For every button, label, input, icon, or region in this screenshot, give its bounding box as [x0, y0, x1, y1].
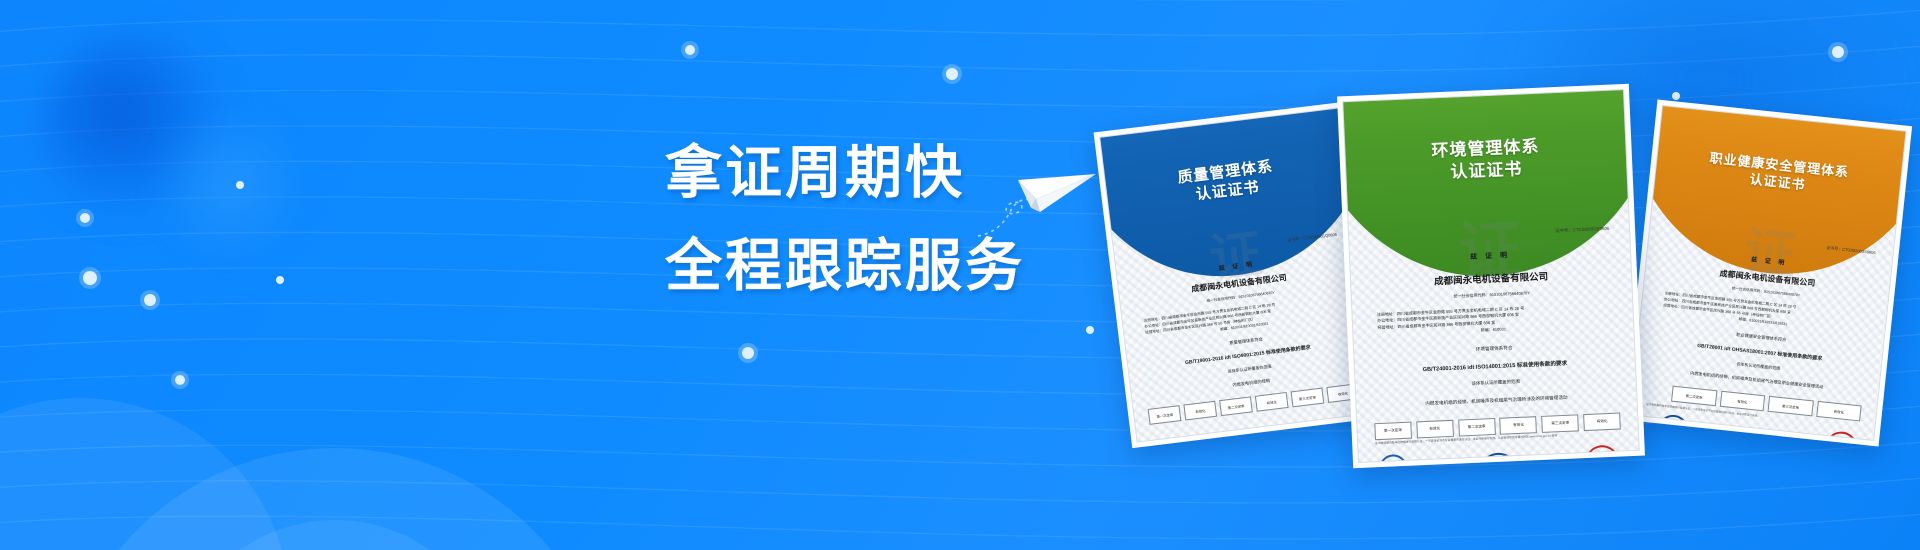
cnas-logo: CNAS — [1481, 452, 1516, 463]
decor-dot-1 — [80, 213, 90, 223]
decor-dot-7 — [742, 347, 754, 359]
certificate-occupational-health[interactable]: 职业健康安全管理体系 认证证书 证 证书号：CT02M2003S0606 兹 证… — [1624, 100, 1912, 447]
certificate-environment[interactable]: 环境管理体系 认证证书 证 证书号：CT01M2002E0606 兹 证 明 成… — [1337, 84, 1645, 468]
certificate-stack: 质量管理体系 认证证书 证 证书号：CT01M2001Q0606 兹 证 明 成… — [1100, 70, 1920, 500]
decor-dot-2 — [144, 294, 156, 306]
glow-blob-light — [150, 110, 310, 260]
certificate-scope-label: 该体系认证所覆盖的范围 — [1375, 375, 1616, 391]
certificate-scope-value: 内燃发电机组的经销、机房噪声及机组尾气治理所涉及的环境管理活动 — [1376, 393, 1617, 409]
certificate-serial: 证书号：CT02M2003S0606 — [1826, 245, 1876, 256]
decor-dot-11 — [175, 375, 185, 385]
certificate-addresses: 注册地址：四川省成都市金牛区金府路 555 号万贯五金机电城二期 C 区 14 … — [1377, 302, 1609, 339]
decor-dot-5 — [685, 45, 695, 55]
certificate-serial: 证书号：CT01M2002E0606 — [1555, 226, 1610, 234]
decor-dot-10 — [1832, 46, 1844, 58]
cnas-caption: 中国合格评定国家MANAGEMENT SYSTEMCNAS-C174-M — [1535, 456, 1566, 463]
certificate-standard: GB/T24001-2016 idt ISO14001:2015 标准使用条款的… — [1374, 357, 1615, 375]
decor-dot-4 — [83, 271, 97, 285]
hero-banner: 拿证周期快 全程跟踪服务 质量管理体系 认证证书 证 证书号：CT01M200 — [0, 0, 1920, 550]
cnas-caption: 中国合格评定国家MANAGEMENT SYSTEMCNAS-C174-M — [1741, 429, 1772, 441]
cnca-logo: 国 — [1378, 454, 1407, 463]
iaf-logo: IAF — [1427, 457, 1462, 463]
cnas-logo: CNAS — [1657, 413, 1690, 441]
decor-dot-3 — [276, 276, 284, 284]
certificate-serial: 证书号：CT01M2001Q0606 — [1287, 232, 1337, 244]
decor-dot-0 — [236, 181, 244, 189]
decor-dot-6 — [946, 68, 958, 80]
decor-dot-8 — [1086, 326, 1094, 334]
certificate-system-name: 环境管理体系符合 — [1374, 341, 1615, 357]
paper-plane-icon — [970, 150, 1100, 240]
